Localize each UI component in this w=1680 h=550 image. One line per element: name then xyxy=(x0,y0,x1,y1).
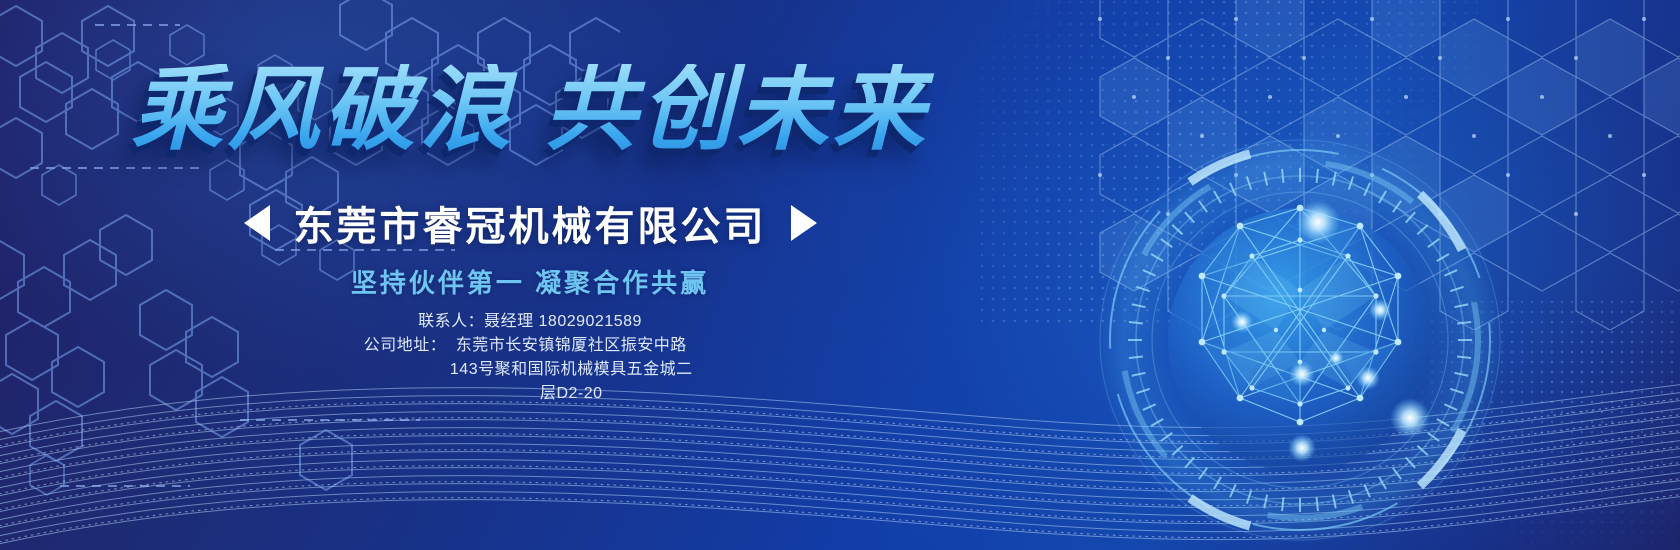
triangle-right-icon xyxy=(791,205,817,241)
slogan: 坚持伙伴第一 凝聚合作共赢 xyxy=(0,263,1060,300)
banner-content: 乘风破浪 共创未来 东莞市睿冠机械有限公司 坚持伙伴第一 凝聚合作共赢 联系人：… xyxy=(0,0,1060,550)
company-name: 东莞市睿冠机械有限公司 xyxy=(294,194,767,252)
address-value: 东莞市长安镇锦厦社区振安中路143号聚和国际机械模具五金城二层D2-20 xyxy=(446,334,696,406)
triangle-left-icon xyxy=(244,205,270,241)
page-title: 乘风破浪 共创未来 xyxy=(0,64,1060,156)
promo-banner: 乘风破浪 共创未来 东莞市睿冠机械有限公司 坚持伙伴第一 凝聚合作共赢 联系人：… xyxy=(0,0,1680,550)
company-address-row: 公司地址： 东莞市长安镇锦厦社区振安中路143号聚和国际机械模具五金城二层D2-… xyxy=(0,334,1060,406)
contact-block: 联系人：聂经理 18029021589 公司地址： 东莞市长安镇锦厦社区振安中路… xyxy=(0,310,1060,406)
address-label: 公司地址： xyxy=(364,334,447,358)
company-name-row: 东莞市睿冠机械有限公司 xyxy=(0,194,1060,252)
contact-person-line: 联系人：聂经理 18029021589 xyxy=(0,310,1060,334)
network-globe-graphic xyxy=(1090,130,1510,550)
